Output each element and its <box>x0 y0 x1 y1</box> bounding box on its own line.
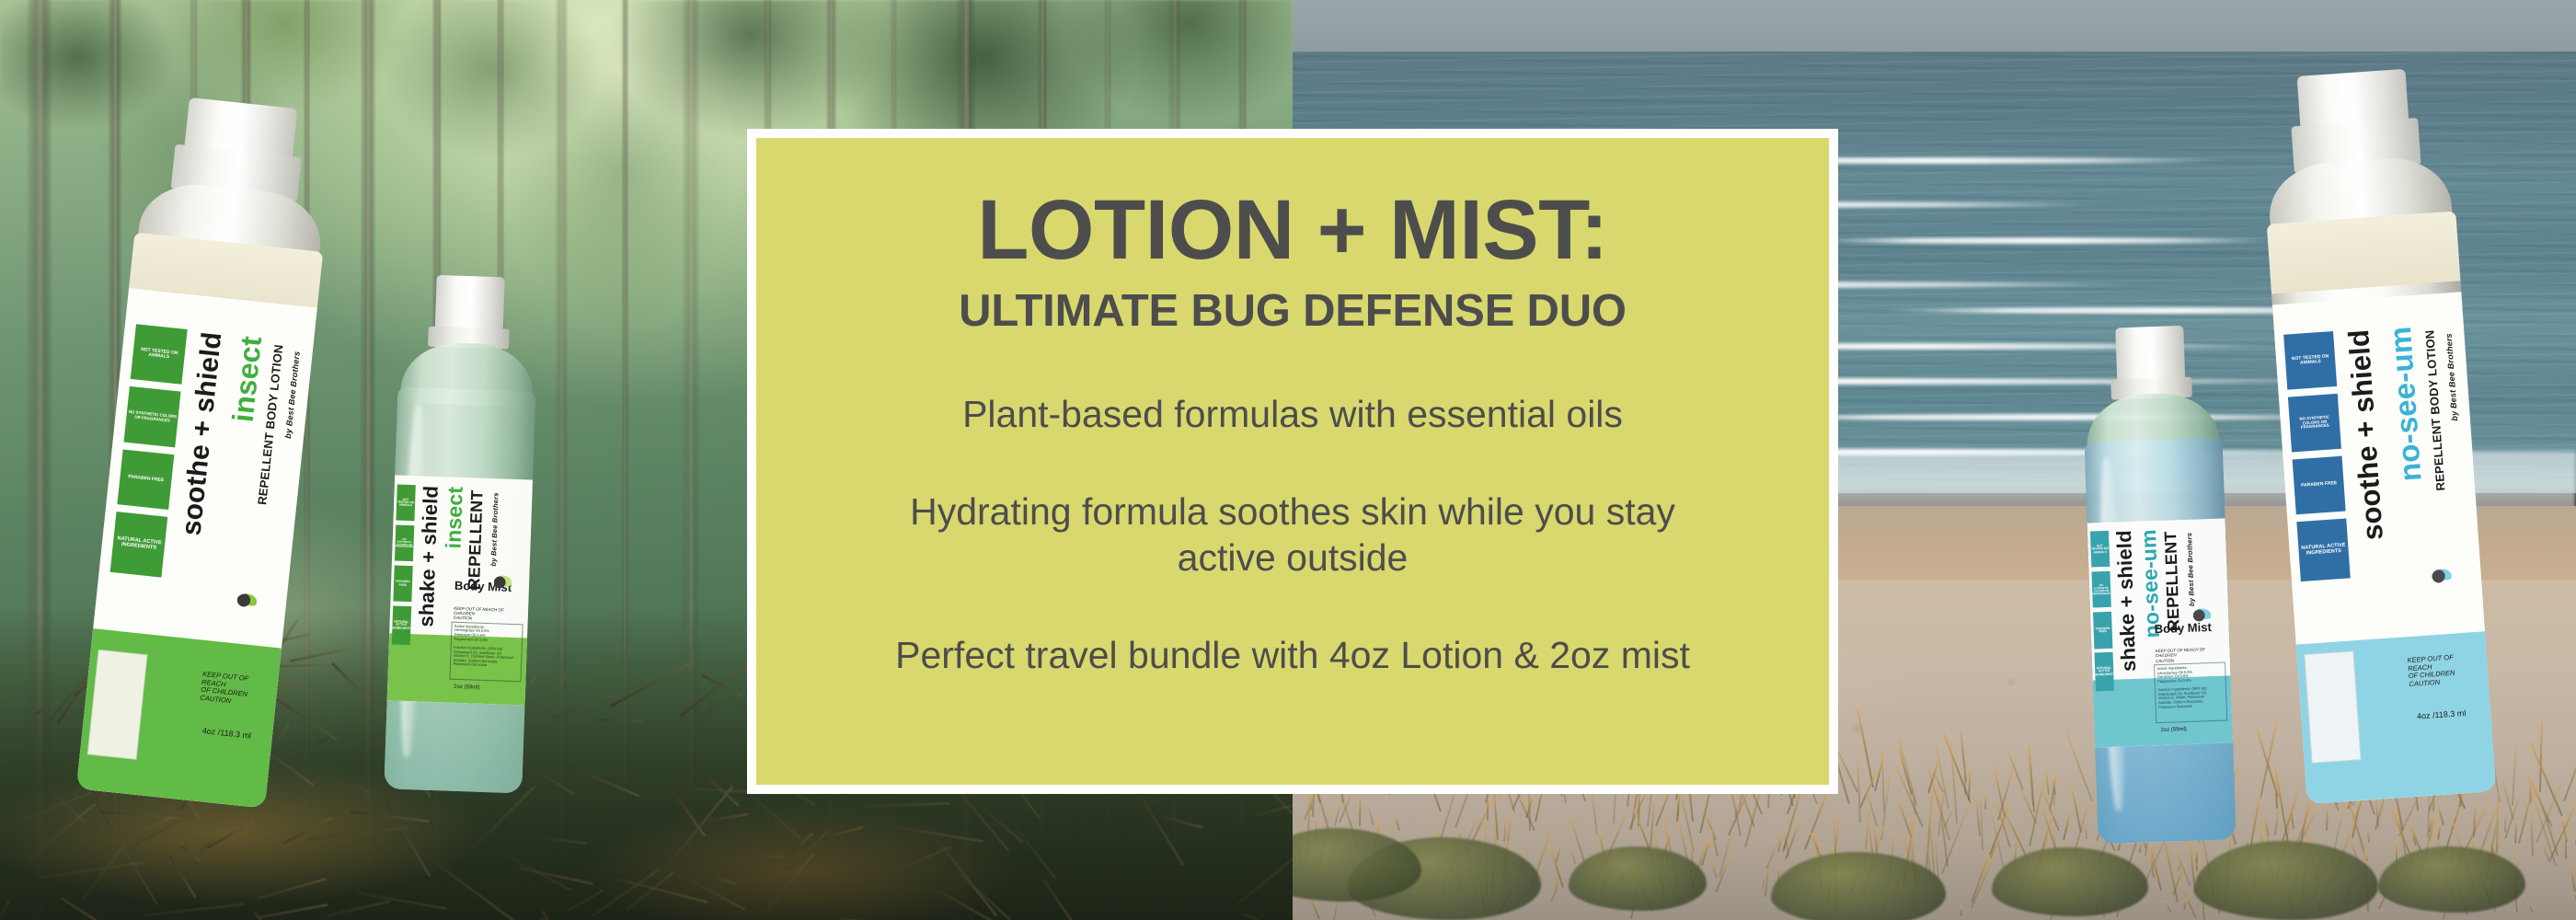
badge-paraben-free: PARABEN FREE <box>2293 456 2346 514</box>
spray-cap <box>2115 326 2186 385</box>
bottle-body: NOT TESTED ON ANIMALS NO SYNTHETIC COLOR… <box>384 387 535 794</box>
badge-natural-active-ingredients: NATURAL ACTIVE INGREDIENTS <box>2095 652 2114 691</box>
badge-not-tested-on-animals: NOT TESTED ON ANIMALS <box>2090 531 2110 568</box>
badge-no-synthetic-colors: NO SYNTHETIC COLORS OR FRAGRANCES <box>124 386 181 447</box>
maker-name: by Best Bee Brothers <box>491 492 500 566</box>
caution-text: KEEP OUT OF REACH OF CHILDREN CAUTION <box>454 605 523 622</box>
badge-label: NO SYNTHETIC COLORS OR FRAGRANCES <box>2291 415 2339 431</box>
ingredients-panel: Active Ingredients: Lemongrass Oil 0.6% … <box>2155 662 2228 723</box>
badge-label: NO SYNTHETIC COLORS OR FRAGRANCES <box>128 410 178 424</box>
badge-label: NOT TESTED ON ANIMALS <box>134 347 184 362</box>
brand-line-1: shake + shield <box>417 486 441 627</box>
ingredients-panel: Active Ingredients: Lemongrass Oil 0.6% … <box>450 621 523 682</box>
badge-not-tested-on-animals: NOT TESTED ON ANIMALS <box>131 324 188 385</box>
lotion-fill <box>2267 211 2461 293</box>
bug-illustration <box>236 592 259 609</box>
badge-paraben-free: PARABEN FREE <box>393 566 412 603</box>
badge-label: NOT TESTED ON ANIMALS <box>2091 545 2110 554</box>
net-size: 2oz (59ml) <box>454 684 480 692</box>
brand-line-1: soothe + shield <box>2346 328 2386 541</box>
benefit-item: Plant-based formulas with essential oils <box>962 391 1623 437</box>
beach-shrub <box>2378 846 2525 913</box>
promo-banner: NOT TESTED ON ANIMALS NO SYNTHETIC COLOR… <box>0 0 2576 920</box>
badge-label: PARABEN FREE <box>2094 627 2112 633</box>
net-size: 2oz (59ml) <box>2160 727 2187 734</box>
maker-name: by Best Bee Brothers <box>284 351 301 439</box>
badge-paraben-free: PARABEN FREE <box>2093 612 2112 649</box>
badge-label: NATURAL ACTIVE INGREDIENTS <box>114 536 164 552</box>
beach-shrub <box>1992 847 2148 916</box>
bug-illustration <box>2432 569 2453 584</box>
promo-text-panel-inner: LOTION + MIST: ULTIMATE BUG DEFENSE DUO … <box>756 138 1829 785</box>
badge-label: NO SYNTHETIC COLORS OR FRAGRANCES <box>395 537 413 548</box>
badge-natural-active-ingredients: NATURAL ACTIVE INGREDIENTS <box>2297 518 2351 581</box>
badge-label: NO SYNTHETIC COLORS OR FRAGRANCES <box>2092 584 2110 595</box>
brand-line-2: no-see-um <box>2386 326 2424 482</box>
brand-line-1: soothe + shield <box>179 331 226 537</box>
badge-not-tested-on-animals: NOT TESTED ON ANIMALS <box>397 485 416 522</box>
benefit-item: Perfect travel bundle with 4oz Lotion & … <box>895 632 1690 678</box>
brand-line-2: insect <box>443 486 466 548</box>
badge-label: NOT TESTED ON ANIMALS <box>397 498 415 507</box>
badge-no-synthetic-colors: NO SYNTHETIC COLORS OR FRAGRANCES <box>2092 571 2111 608</box>
product-label: NOT TESTED ON ANIMALS NO SYNTHETIC COLOR… <box>387 476 533 706</box>
badge-label: NATURAL ACTIVE INGREDIENTS <box>392 620 411 630</box>
beach-shrub <box>1771 852 1946 920</box>
badge-label: NATURAL ACTIVE INGREDIENTS <box>2300 543 2348 557</box>
bottle-body: NOT TESTED ON ANIMALS NO SYNTHETIC COLOR… <box>2085 438 2237 845</box>
spray-cap <box>434 275 505 334</box>
maker-name: by Best Bee Brothers <box>2445 333 2459 421</box>
product-descriptor: REPELLENT <box>2163 531 2181 631</box>
brand-line-2: insect <box>229 335 265 423</box>
product-no-see-um-mist[interactable]: NOT TESTED ON ANIMALS NO SYNTHETIC COLOR… <box>2077 324 2238 844</box>
headline: LOTION + MIST: <box>977 188 1608 272</box>
badge-label: PARABEN FREE <box>2301 481 2337 489</box>
badge-label: NATURAL ACTIVE INGREDIENTS <box>2095 667 2114 677</box>
badge-no-synthetic-colors: NO SYNTHETIC COLORS OR FRAGRANCES <box>395 525 414 562</box>
badge-label: PARABEN FREE <box>128 476 164 484</box>
badge-natural-active-ingredients: NATURAL ACTIVE INGREDIENTS <box>392 606 411 645</box>
beach-shrub <box>1293 828 1421 902</box>
product-label: NOT TESTED ON ANIMALS NO SYNTHETIC COLOR… <box>2272 293 2496 805</box>
caution-text: KEEP OUT OF REACH OF CHILDREN CAUTION <box>2407 652 2480 690</box>
benefit-item: Hydrating formula soothes skin while you… <box>869 489 1716 581</box>
product-insect-mist[interactable]: NOT TESTED ON ANIMALS NO SYNTHETIC COLOR… <box>381 273 542 793</box>
badge-no-synthetic-colors: NO SYNTHETIC COLORS OR FRAGRANCES <box>2288 394 2341 452</box>
badge-paraben-free: PARABEN FREE <box>118 449 175 510</box>
beach-sky <box>1293 0 2576 55</box>
caution-text: KEEP OUT OF REACH OF CHILDREN CAUTION <box>2155 647 2224 663</box>
ingredient-panel <box>2305 650 2362 764</box>
product-descriptor: REPELLENT <box>466 489 485 590</box>
caution-text: KEEP OUT OF REACH OF CHILDREN CAUTION <box>200 671 270 710</box>
bottle-body: NOT TESTED ON ANIMALS NO SYNTHETIC COLOR… <box>2267 211 2496 804</box>
product-descriptor: REPELLENT BODY LOTION <box>2424 329 2446 491</box>
maker-name: by Best Bee Brothers <box>2187 533 2196 606</box>
beach-shrub <box>2194 841 2378 920</box>
badge-label: NOT TESTED ON ANIMALS <box>2286 354 2334 367</box>
product-label: NOT TESTED ON ANIMALS NO SYNTHETIC COLOR… <box>2087 518 2233 748</box>
promo-text-panel: LOTION + MIST: ULTIMATE BUG DEFENSE DUO … <box>747 129 1838 794</box>
brand-line-1: shake + shield <box>2115 530 2139 672</box>
subheadline: ULTIMATE BUG DEFENSE DUO <box>959 289 1627 334</box>
badge-label: PARABEN FREE <box>394 581 412 587</box>
badge-natural-active-ingredients: NATURAL ACTIVE INGREDIENTS <box>110 512 167 577</box>
badge-not-tested-on-animals: NOT TESTED ON ANIMALS <box>2284 331 2338 389</box>
benefit-list: Plant-based formulas with essential oils… <box>799 391 1787 678</box>
